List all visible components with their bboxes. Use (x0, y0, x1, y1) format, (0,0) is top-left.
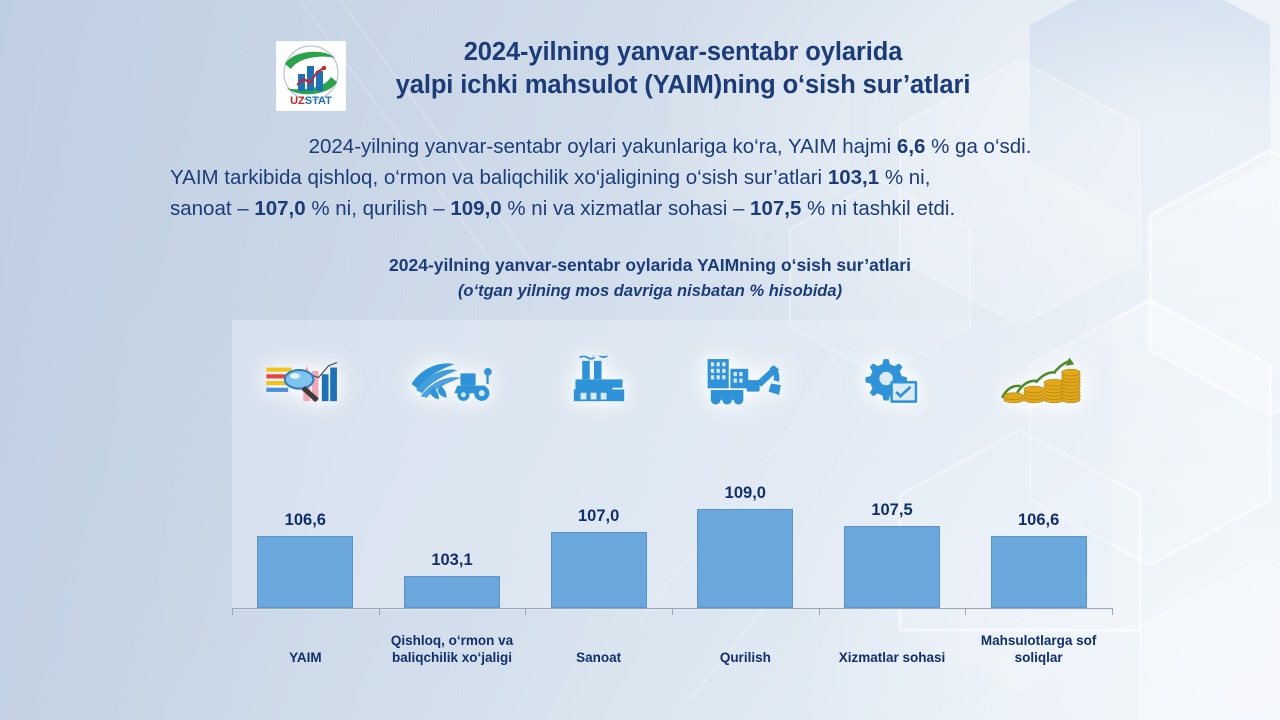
bar-value-label: 103,1 (379, 551, 526, 570)
chart-category-3: 107,0Sanoat (525, 320, 672, 660)
category-axis-label: Xizmatlar sohasi (809, 650, 976, 666)
logo-text-stat: STAT (305, 95, 332, 107)
summary-l2-text-a: YAIM tarkibida qishloq, o‘rmon va baliqc… (170, 166, 828, 189)
uzstat-logo: UZSTAT (277, 42, 345, 110)
category-axis-label: Mahsulotlarga sof soliqlar (955, 633, 1122, 666)
chart-category-1: 106,6YAIM (232, 320, 379, 660)
excavator-building-icon (703, 353, 787, 409)
infographic-slide: UZSTAT 2024-yilning yanvar-sentabr oylar… (0, 0, 1280, 720)
factory-icon (557, 353, 641, 409)
axis-tick (1112, 608, 1113, 615)
svg-text:UZSTAT: UZSTAT (290, 95, 332, 107)
summary-l3-text-a: sanoat – (170, 197, 254, 220)
chart-bar[interactable] (404, 576, 500, 608)
category-axis-label: Sanoat (515, 650, 682, 666)
slide-header: UZSTAT 2024-yilning yanvar-sentabr oylar… (0, 36, 1280, 110)
gear-checklist-icon (850, 353, 934, 409)
bar-value-label: 106,6 (232, 511, 379, 530)
bar-value-label: 107,5 (819, 501, 966, 520)
summary-l3-text-e: % ni va xizmatlar sohasi – (502, 197, 750, 220)
summary-l1-text-c: % ga o‘sdi. (925, 135, 1031, 158)
uzstat-logo-icon: UZSTAT (277, 42, 345, 110)
chart-category-2: 103,1Qishloq, o‘rmon va baliqchilik xo‘j… (379, 320, 526, 660)
page-title-line1: 2024-yilning yanvar-sentabr oylarida (363, 36, 1003, 69)
summary-l3-value-qurilish: 109,0 (450, 197, 501, 220)
chart-bar[interactable] (991, 536, 1087, 608)
icon-slot (819, 350, 966, 412)
chart-bar[interactable] (844, 526, 940, 608)
chart-bar[interactable] (551, 532, 647, 608)
summary-l3-value-sanoat: 107,0 (254, 197, 305, 220)
icon-slot (525, 350, 672, 412)
icon-slot (965, 350, 1112, 412)
logo-text-uz: UZ (290, 95, 305, 107)
page-title-line2: yalpi ichki mahsulot (YAIM)ning o‘sish s… (363, 69, 1003, 102)
icon-slot (379, 350, 526, 412)
summary-line-3: sanoat – 107,0 % ni, qurilish – 109,0 % … (170, 193, 1170, 224)
category-axis-label: Qishloq, o‘rmon va baliqchilik xo‘jaligi (369, 633, 536, 666)
bar-value-label: 107,0 (525, 507, 672, 526)
icon-slot (232, 350, 379, 412)
chart-bar[interactable] (257, 536, 353, 608)
summary-l2-value: 103,1 (828, 166, 879, 189)
chart-category-4: 109,0Qurilish (672, 320, 819, 660)
chart-subtitle: (o‘tgan yilning mos davriga nisbatan % h… (240, 282, 1060, 301)
summary-l3-text-c: % ni, qurilish – (306, 197, 451, 220)
coin-stacks-growth-icon (997, 353, 1081, 409)
icon-slot (672, 350, 819, 412)
bar-value-label: 106,6 (965, 511, 1112, 530)
chart-category-6: 106,6Mahsulotlarga sof soliqlar (965, 320, 1112, 660)
summary-l1-text-a: 2024-yilning yanvar-sentabr oylari yakun… (309, 135, 897, 158)
summary-l3-text-g: % ni tashkil etdi. (801, 197, 955, 220)
summary-line-1: 2024-yilning yanvar-sentabr oylari yakun… (170, 131, 1170, 162)
tractor-field-icon (410, 353, 494, 409)
summary-l2-text-c: % ni, (879, 166, 930, 189)
summary-l3-value-xizmatlar: 107,5 (750, 197, 801, 220)
bar-value-label: 109,0 (672, 484, 819, 503)
magnifier-chart-icon (263, 353, 347, 409)
chart-title: 2024-yilning yanvar-sentabr oylarida YAI… (240, 255, 1060, 276)
chart-category-5: 107,5Xizmatlar sohasi (819, 320, 966, 660)
category-axis-label: YAIM (222, 650, 389, 666)
summary-l1-value: 6,6 (897, 135, 926, 158)
summary-paragraph: 2024-yilning yanvar-sentabr oylari yakun… (170, 131, 1170, 224)
category-axis-label: Qurilish (662, 650, 829, 666)
chart-bar[interactable] (697, 509, 793, 608)
summary-line-2: YAIM tarkibida qishloq, o‘rmon va baliqc… (170, 162, 1170, 193)
page-title: 2024-yilning yanvar-sentabr oylarida yal… (363, 36, 1003, 101)
